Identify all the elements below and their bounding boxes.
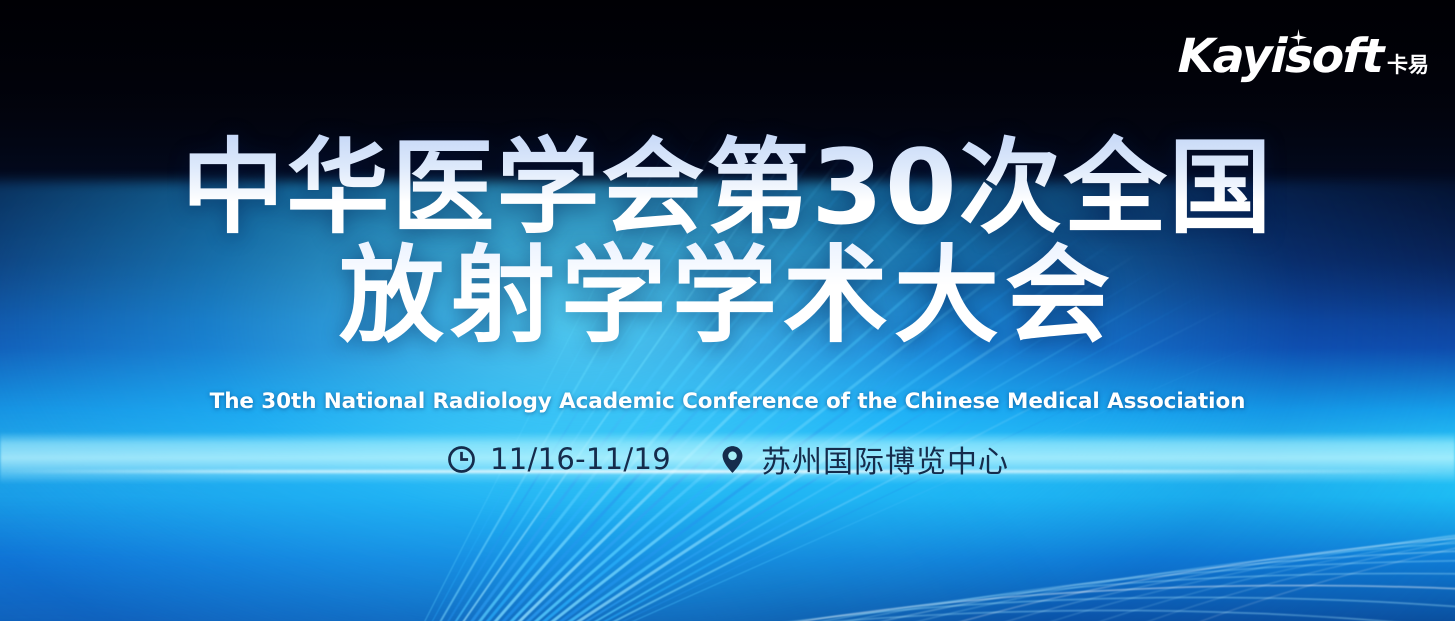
title-line-1: 中华医学会第30次全国	[0, 133, 1455, 244]
title-line-2: 放射学学术大会	[0, 240, 1455, 353]
page-title: 中华医学会第30次全国 放射学学术大会	[0, 133, 1455, 354]
clock-icon	[446, 444, 477, 475]
event-location-label: 苏州国际博览中心	[761, 437, 1009, 481]
sparkle-icon	[1290, 29, 1307, 46]
brand-wordmark: Kayisoft	[1178, 33, 1384, 80]
banner-content: Kayisoft 卡易 中华医学会第30次全国 放射学学术大会 The 30th…	[0, 0, 1455, 621]
event-location: 苏州国际博览中心	[717, 437, 1009, 481]
subtitle-english: The 30th National Radiology Academic Con…	[0, 389, 1455, 414]
event-meta: 11/16-11/19 苏州国际博览中心	[0, 437, 1455, 481]
brand-logo[interactable]: Kayisoft 卡易	[1178, 33, 1429, 80]
event-date: 11/16-11/19	[446, 442, 671, 476]
event-date-label: 11/16-11/19	[490, 442, 671, 476]
conference-banner: Kayisoft 卡易 中华医学会第30次全国 放射学学术大会 The 30th…	[0, 0, 1455, 621]
brand-chinese-name: 卡易	[1387, 55, 1429, 80]
location-pin-icon	[717, 444, 748, 475]
